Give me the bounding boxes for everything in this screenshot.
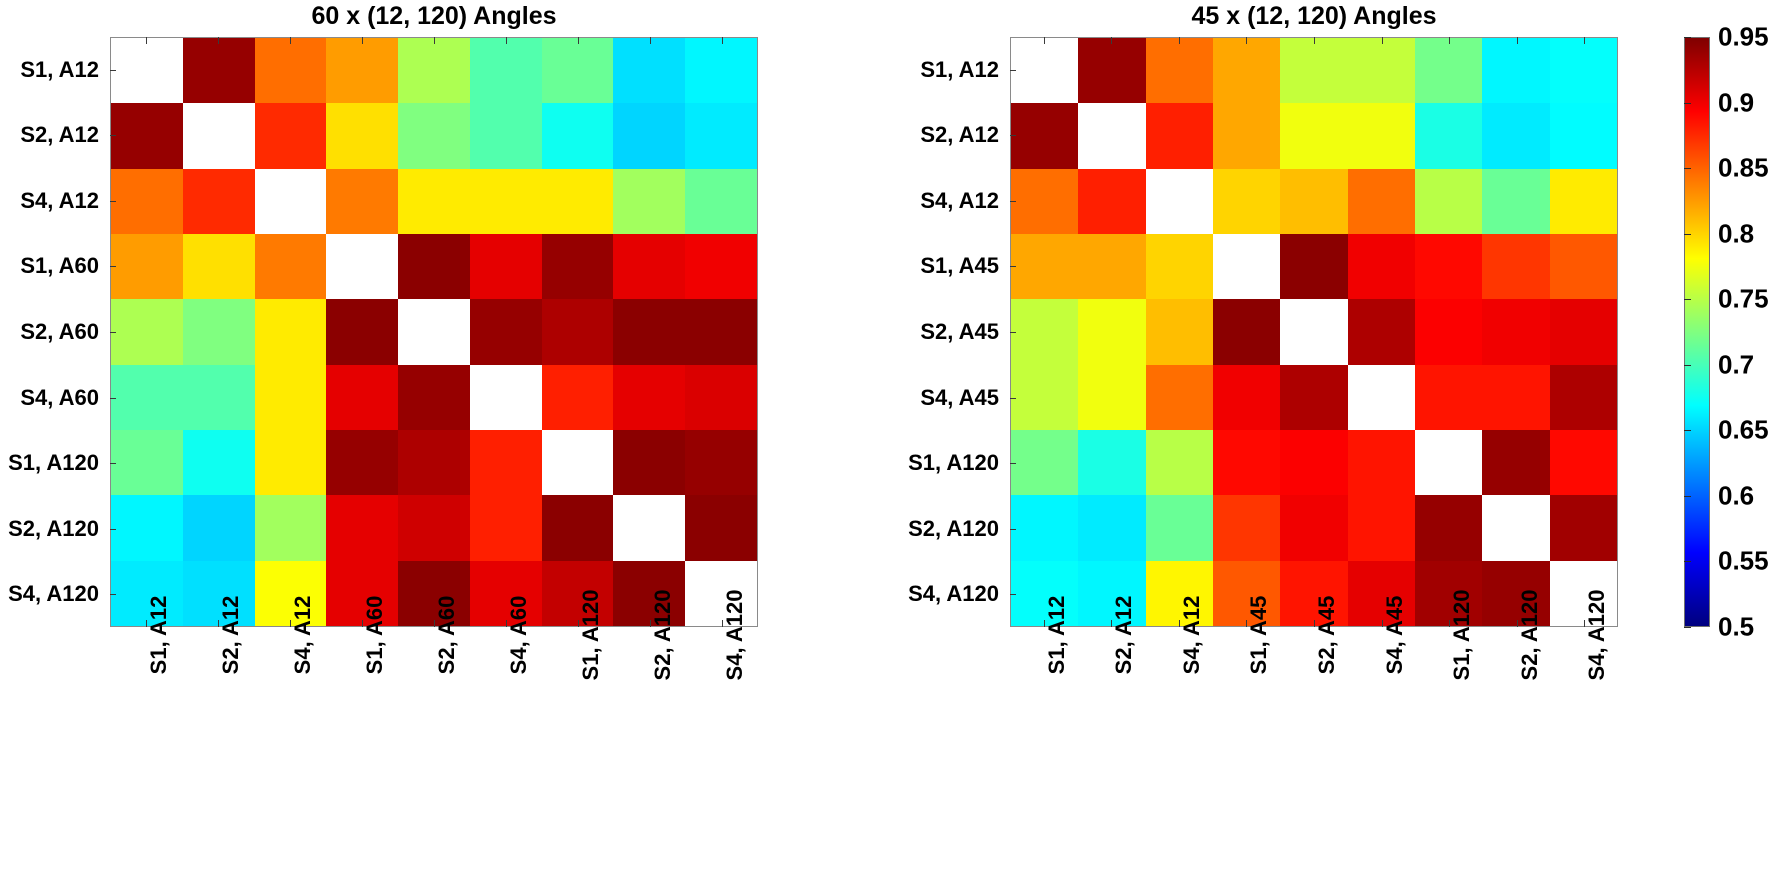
heatmap-cell-diagonal bbox=[1348, 365, 1415, 430]
x-tick-label: S2, A120 bbox=[1517, 590, 1543, 681]
heatmap-cell bbox=[1550, 430, 1617, 495]
y-axis-labels-2: S1, A12S2, A12S4, A12S1, A45S2, A45S4, A… bbox=[885, 37, 1010, 627]
x-tick-label: S4, A12 bbox=[1179, 596, 1205, 675]
heatmap-cell bbox=[1011, 430, 1078, 495]
heatmap-cell bbox=[1482, 103, 1549, 168]
heatmap-cell bbox=[1415, 365, 1482, 430]
heatmap-cell bbox=[1280, 169, 1347, 234]
colorbar-tick bbox=[1684, 627, 1691, 628]
heatmap-cell bbox=[1011, 103, 1078, 168]
colorbar-tick-label: 0.6 bbox=[1718, 481, 1754, 512]
heatmap-cell bbox=[1348, 169, 1415, 234]
heatmap-cell bbox=[1146, 38, 1213, 103]
colorbar-tick-label: 0.65 bbox=[1718, 415, 1769, 446]
colorbar-tick bbox=[1684, 365, 1691, 366]
y-tick-label: S4, A12 bbox=[885, 168, 1010, 234]
heatmap-cell-diagonal bbox=[1078, 103, 1145, 168]
panel-title-2: 45 x (12, 120) Angles bbox=[1010, 2, 1618, 31]
heatmap-cell bbox=[1482, 169, 1549, 234]
colorbar-tick-label: 0.8 bbox=[1718, 219, 1754, 250]
heatmap-cell bbox=[1011, 169, 1078, 234]
x-tick-label: S4, A120 bbox=[1584, 590, 1610, 681]
x-tick-label: S2, A12 bbox=[1111, 596, 1137, 675]
heatmap-cell bbox=[1146, 430, 1213, 495]
heatmap-cell bbox=[1348, 103, 1415, 168]
y-tick-label: S2, A45 bbox=[885, 299, 1010, 365]
heatmap-cell bbox=[1280, 38, 1347, 103]
x-tick-slot: S2, A12 bbox=[1078, 627, 1146, 871]
heatmap-cell bbox=[1280, 430, 1347, 495]
heatmap-cell bbox=[1078, 38, 1145, 103]
heatmap-cell bbox=[1078, 299, 1145, 364]
heatmap-cell bbox=[1550, 38, 1617, 103]
x-tick-slot: S4, A120 bbox=[1551, 627, 1619, 871]
y-tick-label: S1, A12 bbox=[885, 37, 1010, 103]
colorbar-tick bbox=[1684, 299, 1691, 300]
x-tick-slot: S1, A12 bbox=[1010, 627, 1078, 871]
x-axis-labels-2: S1, A12S2, A12S4, A12S1, A45S2, A45S4, A… bbox=[1010, 627, 1618, 871]
colorbar-tick-label: 0.7 bbox=[1718, 350, 1754, 381]
heatmap-cell bbox=[1078, 430, 1145, 495]
x-tick-slot: S4, A12 bbox=[1145, 627, 1213, 871]
colorbar-tick-label: 0.85 bbox=[1718, 153, 1769, 184]
colorbar-gradient bbox=[1684, 37, 1710, 627]
colorbar-tick-label: 0.55 bbox=[1718, 546, 1769, 577]
colorbar-tick-label: 0.75 bbox=[1718, 284, 1769, 315]
heatmap-panel-2: 45 x (12, 120) AnglesS1, A12S2, A12S4, A… bbox=[0, 0, 1772, 871]
y-tick-label: S1, A120 bbox=[885, 430, 1010, 496]
heatmap-cell bbox=[1213, 103, 1280, 168]
heatmap-cell bbox=[1280, 103, 1347, 168]
heatmap-cell bbox=[1213, 299, 1280, 364]
x-tick-slot: S2, A120 bbox=[1483, 627, 1551, 871]
heatmap-cell bbox=[1146, 365, 1213, 430]
colorbar-tick-label: 0.9 bbox=[1718, 88, 1754, 119]
x-tick-slot: S2, A45 bbox=[1280, 627, 1348, 871]
x-tick-label: S1, A12 bbox=[1044, 596, 1070, 675]
heatmap-cell-diagonal bbox=[1146, 169, 1213, 234]
heatmap-cell bbox=[1482, 365, 1549, 430]
heatmap-cell-diagonal bbox=[1213, 234, 1280, 299]
heatmap-cell bbox=[1213, 365, 1280, 430]
colorbar-tick bbox=[1684, 496, 1691, 497]
heatmap-cell bbox=[1348, 234, 1415, 299]
heatmap-cell-diagonal bbox=[1011, 38, 1078, 103]
figure-canvas: 60 x (12, 120) AnglesS1, A12S2, A12S4, A… bbox=[0, 0, 1772, 871]
x-tick-slot: S1, A45 bbox=[1213, 627, 1281, 871]
heatmap-cell bbox=[1078, 234, 1145, 299]
heatmap-cell bbox=[1011, 234, 1078, 299]
heatmap-cell bbox=[1482, 38, 1549, 103]
x-tick-label: S4, A45 bbox=[1382, 596, 1408, 675]
heatmap-cell bbox=[1415, 38, 1482, 103]
heatmap-cell bbox=[1550, 365, 1617, 430]
heatmap-cell bbox=[1415, 495, 1482, 560]
colorbar: 0.950.90.850.80.750.70.650.60.550.5 bbox=[1684, 37, 1772, 627]
heatmap-cell bbox=[1550, 299, 1617, 364]
colorbar-tick bbox=[1684, 430, 1691, 431]
y-tick-label: S1, A45 bbox=[885, 234, 1010, 300]
heatmap-cell bbox=[1348, 38, 1415, 103]
heatmap-cell bbox=[1482, 234, 1549, 299]
colorbar-tick bbox=[1684, 103, 1691, 104]
heatmap-cell bbox=[1213, 430, 1280, 495]
heatmap-cell bbox=[1415, 103, 1482, 168]
heatmap-cell bbox=[1146, 299, 1213, 364]
y-tick-label: S4, A120 bbox=[885, 562, 1010, 628]
colorbar-tick-label: 0.5 bbox=[1718, 612, 1754, 643]
colorbar-tick-label: 0.95 bbox=[1718, 22, 1769, 53]
x-tick-label: S1, A45 bbox=[1246, 596, 1272, 675]
heatmap-cell bbox=[1078, 169, 1145, 234]
heatmap-cell bbox=[1280, 495, 1347, 560]
heatmap-cell bbox=[1011, 495, 1078, 560]
y-tick-label: S2, A12 bbox=[885, 103, 1010, 169]
heatmap-cell bbox=[1011, 299, 1078, 364]
x-tick-slot: S4, A45 bbox=[1348, 627, 1416, 871]
heatmap-cell bbox=[1550, 103, 1617, 168]
heatmap-cell-diagonal bbox=[1280, 299, 1347, 364]
heatmap-cell bbox=[1213, 495, 1280, 560]
heatmap-cell bbox=[1146, 495, 1213, 560]
heatmap-cell bbox=[1415, 299, 1482, 364]
heatmap-cell bbox=[1213, 38, 1280, 103]
heatmap-cell bbox=[1078, 365, 1145, 430]
colorbar-tick bbox=[1684, 168, 1691, 169]
heatmap-cell bbox=[1415, 234, 1482, 299]
heatmap-cell bbox=[1280, 365, 1347, 430]
x-tick-slot: S1, A120 bbox=[1415, 627, 1483, 871]
heatmap-cell bbox=[1482, 299, 1549, 364]
heatmap-cell bbox=[1550, 169, 1617, 234]
heatmap-cell bbox=[1146, 103, 1213, 168]
heatmap-cell bbox=[1348, 495, 1415, 560]
heatmap-cell bbox=[1415, 169, 1482, 234]
heatmap-cell bbox=[1550, 495, 1617, 560]
heatmap-matrix-2 bbox=[1010, 37, 1618, 627]
y-tick-label: S2, A120 bbox=[885, 496, 1010, 562]
heatmap-cell bbox=[1213, 169, 1280, 234]
heatmap-cell-diagonal bbox=[1415, 430, 1482, 495]
heatmap-cell bbox=[1348, 299, 1415, 364]
heatmap-cell bbox=[1550, 234, 1617, 299]
heatmap-cell bbox=[1078, 495, 1145, 560]
heatmap-cell bbox=[1146, 234, 1213, 299]
colorbar-tick bbox=[1684, 561, 1691, 562]
heatmap-cell bbox=[1348, 430, 1415, 495]
heatmap-cell bbox=[1011, 365, 1078, 430]
colorbar-tick bbox=[1684, 37, 1691, 38]
heatmap-cell bbox=[1482, 430, 1549, 495]
heatmap-cell-diagonal bbox=[1482, 495, 1549, 560]
colorbar-tick bbox=[1684, 234, 1691, 235]
y-tick-label: S4, A45 bbox=[885, 365, 1010, 431]
x-tick-label: S1, A120 bbox=[1449, 590, 1475, 681]
heatmap-cell bbox=[1280, 234, 1347, 299]
x-tick-label: S2, A45 bbox=[1314, 596, 1340, 675]
